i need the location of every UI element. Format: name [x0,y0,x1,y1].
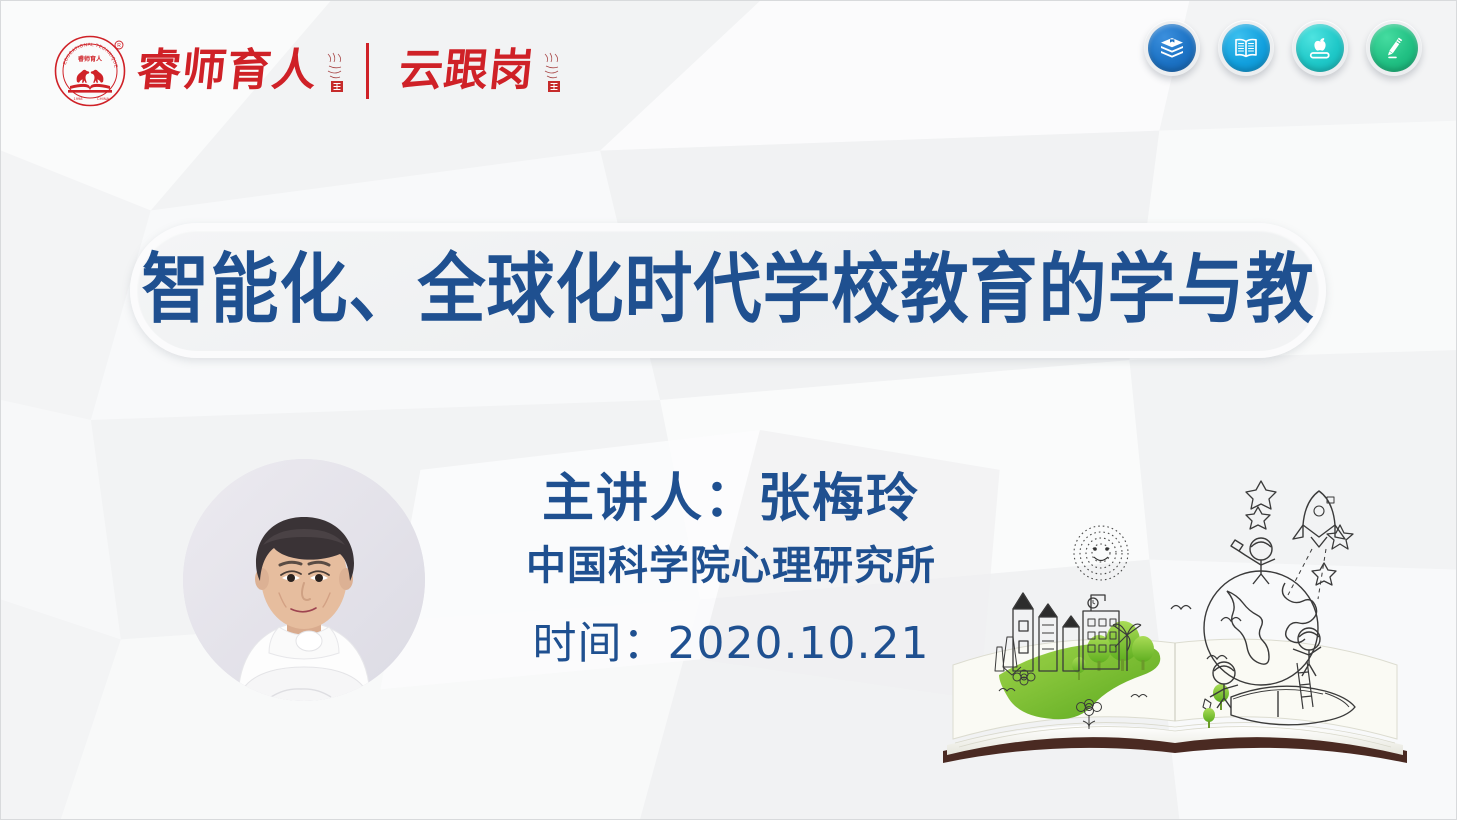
speaker-name: 主讲人：张梅玲 [471,471,991,528]
speaker-avatar [183,459,425,701]
stacked-books-icon [1158,34,1186,62]
speaker-date: 时间：2020.10.21 [471,618,991,671]
rocket-trail [1288,549,1326,599]
open-book-button[interactable] [1218,20,1274,76]
brand-secondary-text: 云跟岗 [397,49,537,93]
pencil-button[interactable] [1366,20,1422,76]
presentation-slide: EDUCATIONAL TECHNIQUE RESEARCH 睿师育人 1998… [0,0,1457,820]
signature-stamp-icon [324,48,350,94]
child-telescope [1231,538,1275,584]
apple-book-button[interactable] [1292,20,1348,76]
stars [1246,481,1353,585]
open-book-learning-illustration [931,453,1421,798]
slide-title-pill: 智能化、全球化时代学校教育的学与教 [130,223,1326,358]
brand-divider [366,43,369,99]
svg-text:CHINA: CHINA [97,96,110,101]
rocket-icon [1293,491,1345,547]
speaker-portrait-illustration [183,459,425,701]
sun-icon [1074,526,1128,580]
signature-stamp-icon-2 [541,48,567,94]
pencil-icon [1380,34,1408,62]
stacked-books-button[interactable] [1144,20,1200,76]
brand-primary-text: 睿师育人 [135,49,320,93]
svg-text:1998: 1998 [74,96,84,101]
svg-text:睿师育人: 睿师育人 [78,55,103,63]
seal-emblem-icon: EDUCATIONAL TECHNIQUE RESEARCH 睿师育人 1998… [53,34,127,108]
speaker-info-block: 主讲人：张梅玲 中国科学院心理研究所 时间：2020.10.21 [471,471,991,671]
open-book-icon [1232,34,1260,62]
svg-text:R: R [117,43,121,49]
apple-book-icon [1306,34,1334,62]
speaker-organization: 中国科学院心理研究所 [471,540,991,592]
brand-logo-lockup: EDUCATIONAL TECHNIQUE RESEARCH 睿师育人 1998… [53,31,567,111]
page-title: 智能化、全球化时代学校教育的学与教 [141,252,1314,328]
nav-icon-row[interactable] [1144,20,1422,76]
